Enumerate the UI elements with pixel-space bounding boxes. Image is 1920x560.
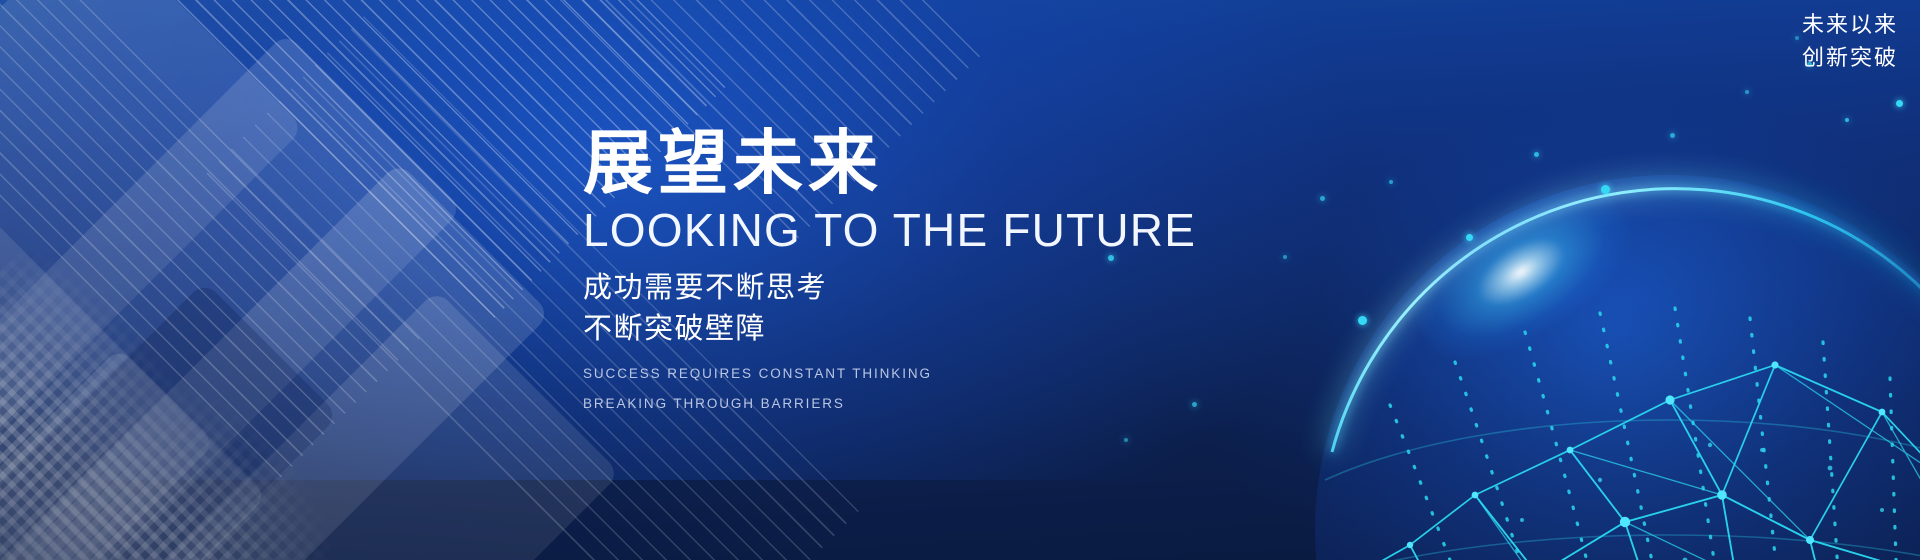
deco-rect-6	[0, 347, 268, 560]
subtitle-cn-2: 不断突破壁障	[583, 309, 1343, 350]
headline-copy-block: 展望未来 LOOKING TO THE FUTURE 成功需要不断思考 不断突破…	[583, 128, 1343, 419]
particle-dot	[1389, 180, 1393, 184]
deco-rect-1	[0, 0, 304, 524]
deco-rect-2	[0, 32, 463, 560]
particle-dot	[1845, 118, 1849, 122]
promo-banner: 展望未来 LOOKING TO THE FUTURE 成功需要不断思考 不断突破…	[0, 0, 1920, 560]
particle-dot	[1124, 438, 1128, 442]
page-title-en: LOOKING TO THE FUTURE	[583, 206, 1343, 254]
deco-halftone-2	[12, 362, 408, 560]
subtitle-en-2: BREAKING THROUGH BARRIERS	[583, 389, 1343, 419]
particle-dot	[1670, 133, 1675, 138]
page-title-cn: 展望未来	[583, 128, 1343, 198]
particle-dot	[1601, 185, 1610, 194]
wireframe-globe	[1270, 150, 1920, 560]
particle-dot	[1795, 36, 1799, 40]
deco-left-wash	[0, 0, 620, 560]
particle-dot	[1358, 316, 1367, 325]
deco-rect-dark-1	[0, 281, 339, 560]
globe-light-flare	[1392, 160, 1651, 384]
deco-stripes-3	[0, 0, 420, 480]
subtitle-en-block: SUCCESS REQUIRES CONSTANT THINKING BREAK…	[583, 359, 1343, 420]
particle-dot	[1896, 100, 1903, 107]
subtitle-cn-1: 成功需要不断思考	[583, 268, 1343, 309]
corner-tagline-line2: 创新突破	[1802, 41, 1898, 74]
corner-tagline: 未来以来 创新突破	[1802, 8, 1898, 75]
deco-rect-3	[0, 162, 551, 560]
particle-dot	[1466, 234, 1473, 241]
deco-rect-4	[0, 209, 216, 560]
deco-rect-5	[140, 290, 621, 560]
particle-dot	[1745, 90, 1749, 94]
corner-tagline-line1: 未来以来	[1802, 8, 1898, 41]
particle-dot	[1534, 152, 1539, 157]
subtitle-en-1: SUCCESS REQUIRES CONSTANT THINKING	[583, 359, 1343, 389]
deco-halftone-1	[0, 227, 278, 560]
